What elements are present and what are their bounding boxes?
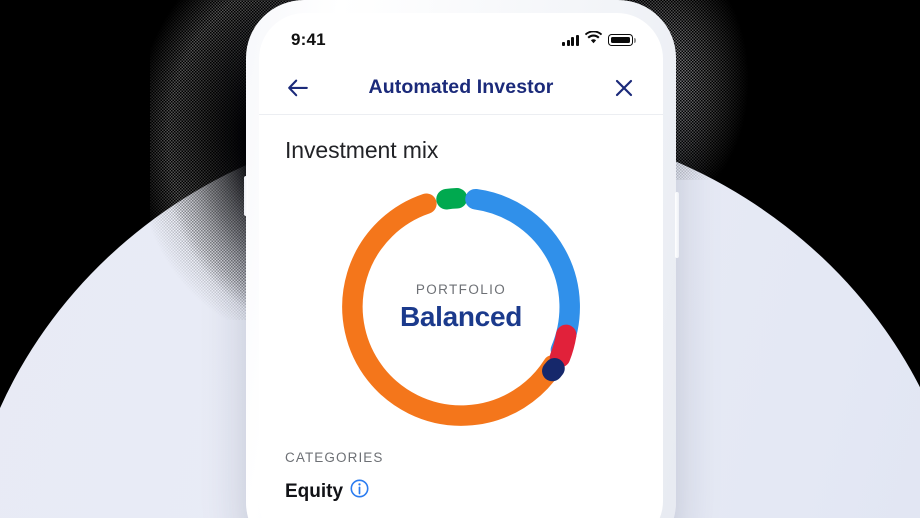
- phone-mockup: 9:41: [246, 0, 676, 518]
- status-bar-time: 9:41: [291, 30, 326, 50]
- category-name: Equity: [285, 481, 343, 503]
- close-x-icon[interactable]: [609, 73, 639, 103]
- donut-kicker: PORTFOLIO: [416, 282, 506, 297]
- investment-mix-donut-chart: PORTFOLIO Balanced: [285, 178, 637, 436]
- info-circle-icon[interactable]: [350, 479, 369, 504]
- cellular-signal-icon: [562, 34, 579, 46]
- status-bar-icons: [562, 31, 633, 49]
- categories-section-label: CATEGORIES: [285, 450, 637, 465]
- phone-volume-button[interactable]: [244, 176, 248, 216]
- category-heading: Equity: [285, 479, 637, 504]
- phone-power-button[interactable]: [675, 192, 679, 258]
- donut-center-label: PORTFOLIO Balanced: [327, 178, 595, 436]
- status-bar: 9:41: [259, 13, 663, 61]
- screenshot-stage: 9:41: [0, 0, 920, 518]
- phone-screen: 9:41: [259, 13, 663, 518]
- screen-content: Investment mix: [259, 137, 663, 518]
- investment-mix-heading: Investment mix: [285, 137, 637, 164]
- back-arrow-icon[interactable]: [283, 73, 313, 103]
- page-title: Automated Investor: [313, 76, 609, 99]
- wifi-icon: [585, 31, 602, 49]
- nav-bar: Automated Investor: [259, 61, 663, 115]
- donut-value: Balanced: [400, 301, 522, 333]
- battery-icon: [608, 34, 633, 46]
